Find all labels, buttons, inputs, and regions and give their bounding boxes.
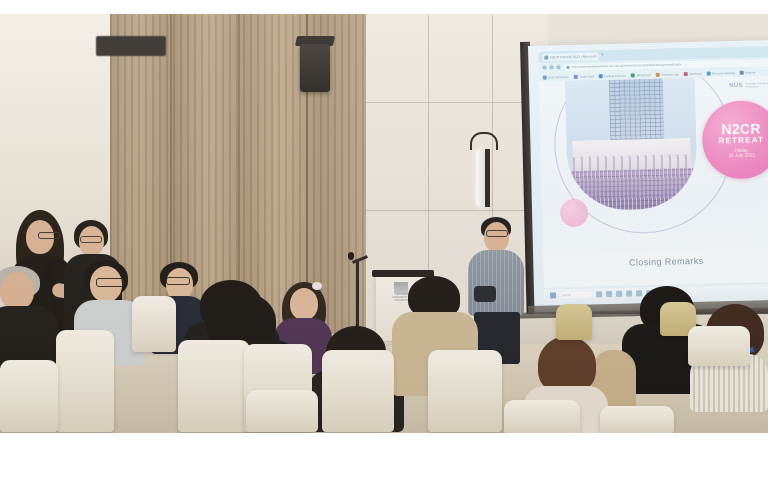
ceiling-speaker-icon: [300, 44, 330, 92]
letterbox-bottom: [0, 433, 768, 480]
bookmark-favicon-icon: [599, 74, 603, 78]
bookmark-label: Reports: [745, 70, 755, 74]
bookmark-label: HR Portal: [689, 71, 701, 75]
bookmark-label: SharePoint: [637, 73, 651, 77]
chair: [132, 296, 176, 352]
microphone-icon: [348, 252, 354, 260]
bookmark-favicon-icon: [740, 70, 744, 74]
campus-building-image: [565, 76, 698, 211]
chair: [688, 326, 750, 366]
bookmark-label: Resource Booking: [712, 70, 735, 75]
eyeglasses-icon: [166, 277, 190, 285]
bookmark-item[interactable]: Teams Staff: [574, 74, 594, 78]
letterbox-top: [0, 0, 768, 14]
address-value: https://www.myslidewebslide.nus.edu.sg/s…: [571, 62, 681, 69]
sconce-hook-icon: [470, 132, 498, 150]
eyeglasses-icon: [96, 278, 124, 287]
taskbar-icon-powerpoint[interactable]: [636, 290, 642, 296]
browser-tab-title: N2CR Retreat 2022 | Microsoft: [550, 54, 596, 59]
bookmark-item[interactable]: SharePoint: [631, 73, 650, 77]
chair: [246, 390, 318, 432]
chair: [56, 330, 114, 432]
bookmark-favicon-icon: [543, 75, 547, 79]
badge-title: N2CR: [721, 121, 761, 137]
taskbar-icon-edge[interactable]: [596, 291, 602, 297]
bookmark-favicon-icon: [655, 72, 659, 76]
bookmark-label: NUS Staff Portal: [548, 75, 569, 79]
chair: [504, 400, 580, 433]
eyeglasses-icon: [38, 232, 60, 239]
taskbar-icon-mail[interactable]: [616, 291, 622, 297]
chair: [322, 350, 394, 432]
lectern-top-edge: [372, 270, 434, 277]
bookmark-label: Teams Staff: [579, 74, 594, 78]
presentation-slide: NUS National University of Singapore N2C…: [539, 76, 768, 288]
bookmark-item[interactable]: Resource Booking: [706, 70, 734, 75]
crowd-foreground: [567, 168, 698, 211]
chair: [428, 350, 502, 432]
taskbar-icon-explorer[interactable]: [606, 291, 612, 297]
conference-room-photo: N2CR Retreat 2022 | Microsoft + https://…: [0, 14, 768, 433]
reload-icon[interactable]: [556, 65, 560, 69]
nus-subtitle: National University of Singapore: [745, 82, 768, 89]
eyeglasses-icon: [80, 236, 102, 243]
bookmark-item[interactable]: Reports: [740, 70, 755, 74]
taskbar-icon-teams[interactable]: [626, 291, 632, 297]
slide-heading: Closing Remarks: [543, 254, 768, 270]
new-tab-icon[interactable]: +: [601, 53, 604, 58]
chair: [600, 406, 674, 433]
bookmark-favicon-icon: [631, 73, 635, 77]
bookmark-favicon-icon: [706, 71, 710, 75]
nus-logo: NUS National University of Singapore: [729, 82, 768, 90]
photograph-canvas: N2CR Retreat 2022 | Microsoft + https://…: [0, 0, 768, 480]
bookmark-favicon-icon: [684, 72, 688, 76]
bookmark-item[interactable]: Research Hub: [655, 72, 678, 77]
bookmark-item[interactable]: NUS Staff Portal: [543, 75, 569, 80]
badge-subtitle: RETREAT: [719, 137, 765, 147]
nus-wordmark: NUS: [729, 83, 743, 89]
back-arrow-icon[interactable]: [542, 66, 546, 70]
favicon-icon: [544, 55, 548, 59]
wall-sconce-light: [476, 149, 485, 207]
browser-tab[interactable]: N2CR Retreat 2022 | Microsoft: [542, 52, 598, 61]
badge-date: 15 July 2022: [729, 153, 755, 158]
hair-clip-icon: [312, 282, 322, 290]
bookmark-favicon-icon: [574, 74, 578, 78]
windows-start-icon[interactable]: [550, 292, 556, 298]
bookmark-label: Outlook Calendar: [604, 73, 626, 78]
chair-tan: [556, 304, 592, 340]
projection-screen: N2CR Retreat 2022 | Microsoft + https://…: [528, 40, 768, 314]
bookmark-label: Research Hub: [661, 72, 679, 76]
eyeglasses-icon: [486, 230, 508, 237]
chair: [0, 360, 58, 432]
taskbar-search-field[interactable]: Search: [560, 292, 592, 299]
handheld-device-icon: [474, 286, 496, 302]
lock-icon: [566, 65, 569, 68]
shirt-stripes: [468, 250, 524, 316]
bookmark-item[interactable]: Outlook Calendar: [599, 73, 626, 78]
bookmark-item[interactable]: HR Portal: [684, 71, 702, 75]
ceiling-soffit: [96, 36, 166, 56]
chair: [178, 340, 250, 432]
forward-arrow-icon[interactable]: [549, 65, 553, 69]
sconce-backplate: [485, 149, 490, 207]
decorative-pink-dot: [560, 199, 589, 228]
